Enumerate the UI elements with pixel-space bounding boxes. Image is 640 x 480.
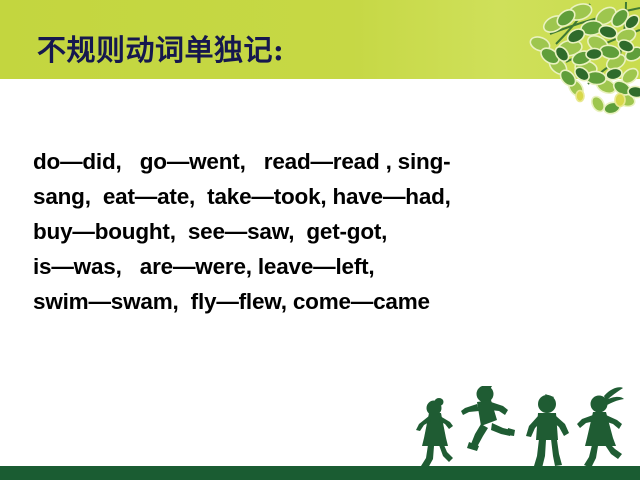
- child-boy-jumping-silhouette: [461, 386, 515, 451]
- child-girl-running-silhouette: [416, 398, 453, 468]
- verb-line: is—was, are—were, leave—left,: [33, 249, 593, 284]
- verb-line: sang, eat—ate, take—took, have—had,: [33, 179, 593, 214]
- child-girl-ponytail-running-silhouette: [577, 387, 624, 468]
- page-title: 不规则动词单独记:: [37, 36, 284, 65]
- verb-list: do—did, go—went, read—read , sing- sang,…: [33, 144, 593, 319]
- children-silhouettes-icon: [415, 386, 640, 470]
- verb-line: do—did, go—went, read—read , sing-: [33, 144, 593, 179]
- child-boy-walking-silhouette: [526, 394, 569, 468]
- verb-line: buy—bought, see—saw, get-got,: [33, 214, 593, 249]
- footer-bar: [0, 466, 640, 480]
- verb-line: swim—swam, fly—flew, come—came: [33, 284, 593, 319]
- presentation-slide: 不规则动词单独记:: [0, 0, 640, 480]
